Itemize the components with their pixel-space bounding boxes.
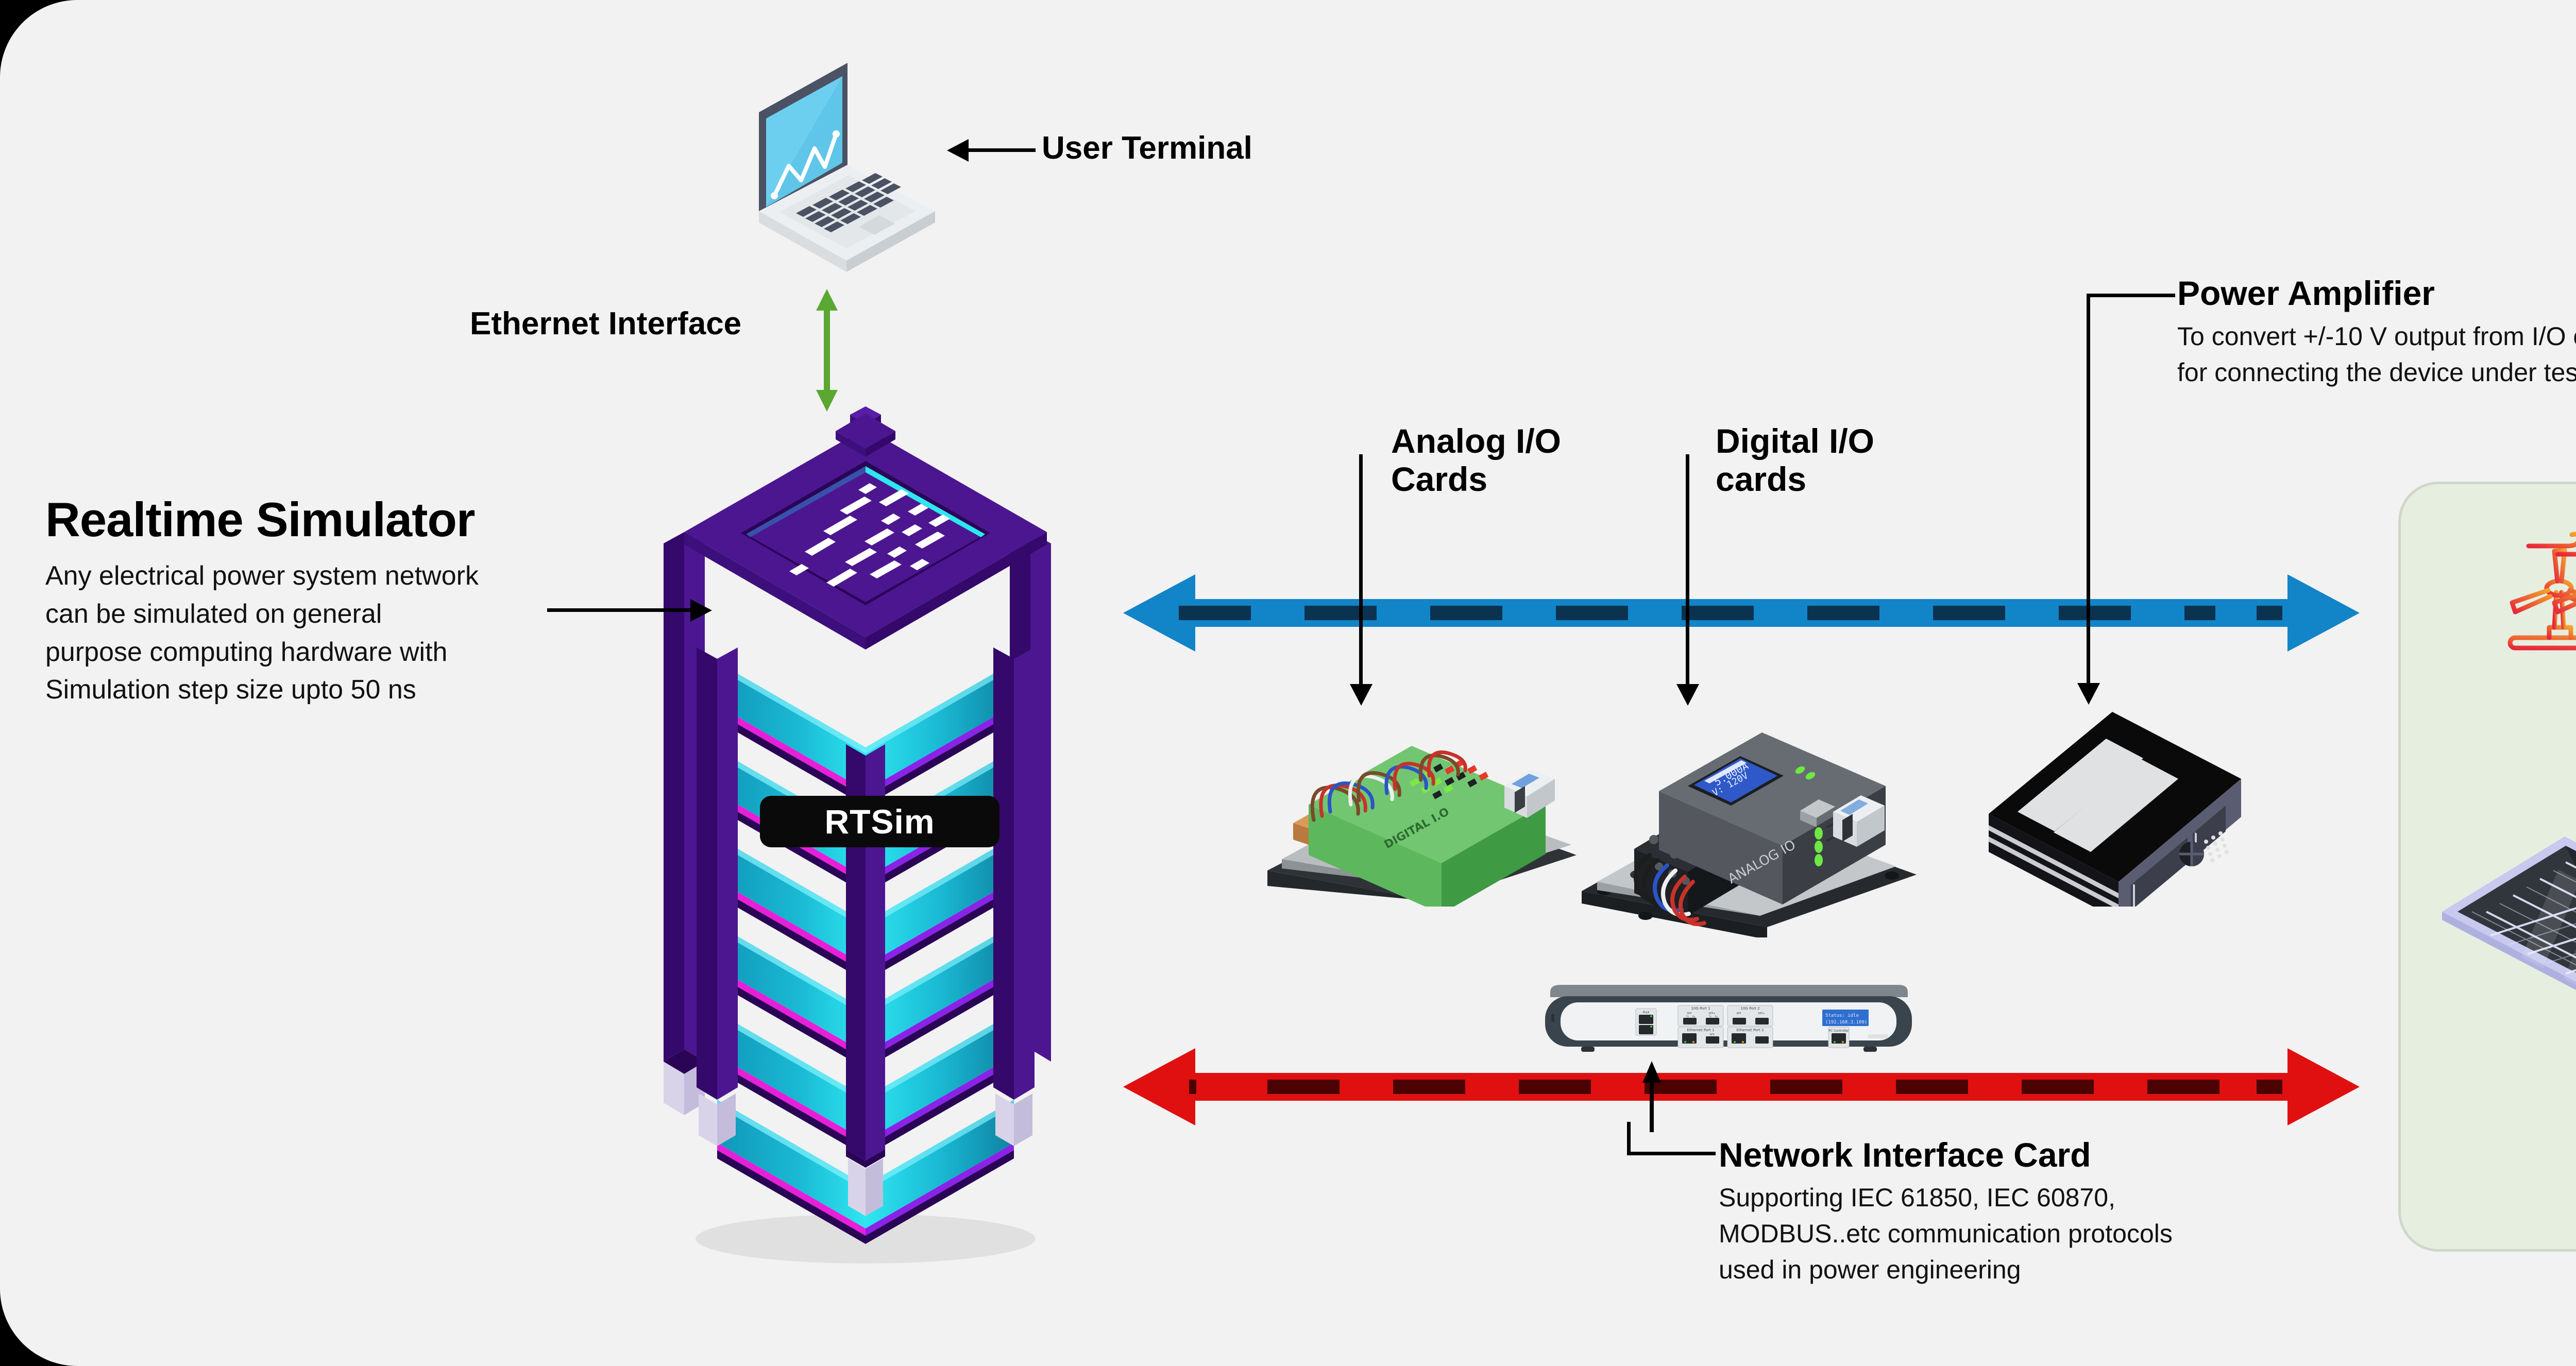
nic-port-label-aux: Aux bbox=[1642, 1010, 1649, 1014]
nic-leader-vline bbox=[1627, 1122, 1631, 1154]
power-amplifier-leader-vline bbox=[2087, 294, 2090, 685]
svg-text:SFP: SFP bbox=[1736, 1012, 1741, 1015]
nic-desc-line-1: Supporting IEC 61850, IEC 60870, bbox=[1719, 1180, 2388, 1216]
analog-io-label: Analog I/O Cards bbox=[1391, 422, 1561, 499]
digital-io-label: Digital I/O cards bbox=[1716, 422, 1874, 499]
svg-text:SFP: SFP bbox=[1709, 1033, 1714, 1036]
svg-text:Tx: Tx bbox=[1708, 1015, 1711, 1018]
nic-status-line-1: Status: idle bbox=[1825, 1013, 1859, 1018]
power-amplifier-heading: Power Amplifier bbox=[2177, 275, 2435, 313]
sim-desc-line-2: can be simulated on general bbox=[45, 595, 561, 634]
svg-text:Tx: Tx bbox=[1686, 1015, 1689, 1018]
analog-io-label-line-1: Analog I/O bbox=[1391, 422, 1561, 460]
svg-text:Rx: Rx bbox=[1715, 1015, 1718, 1018]
digital-io-label-line-2: cards bbox=[1716, 460, 1874, 499]
nic-desc-line-2: MODBUS..etc communication protocols bbox=[1719, 1216, 2388, 1252]
nic-port-label-pc: PC Controller bbox=[1828, 1029, 1849, 1033]
analog-signal-bus bbox=[1123, 564, 2360, 662]
rtsim-badge-label: RTSim bbox=[824, 802, 935, 841]
nic-port-label-10g-1: 10G Port 1 bbox=[1691, 1006, 1710, 1011]
analog-io-device: DIGITAL I.O bbox=[1257, 685, 1587, 907]
diagram-canvas: User Terminal Ethernet Interface bbox=[0, 0, 2576, 1366]
realtime-simulator-heading: Realtime Simulator bbox=[45, 494, 474, 545]
nic-port-label-10g-2: 10G Port 2 bbox=[1740, 1006, 1759, 1011]
digital-io-label-line-1: Digital I/O bbox=[1716, 422, 1874, 460]
nic-leader-arrow-up bbox=[1636, 1060, 1667, 1132]
user-terminal-illustration bbox=[719, 57, 1007, 283]
nic-status-line-2: (192.168.3.100) bbox=[1825, 1020, 1867, 1025]
sim-desc-line-1: Any electrical power system network bbox=[45, 557, 561, 595]
power-amplifier-description: To convert +/-10 V output from I/O cards… bbox=[2177, 318, 2576, 390]
power-amplifier-leader-hline bbox=[2087, 294, 2175, 297]
nic-port-label-eth-1: Ethernet Port 1 bbox=[1687, 1028, 1715, 1032]
sim-desc-line-3: purpose computing hardware with bbox=[45, 634, 561, 672]
simulator-leader-arrow bbox=[690, 599, 712, 622]
ethernet-interface-label: Ethernet Interface bbox=[470, 305, 741, 343]
pa-desc-line-2: for connecting the device under test bbox=[2177, 354, 2576, 390]
svg-text:Rx: Rx bbox=[1692, 1015, 1696, 1018]
nic-leader-hline bbox=[1627, 1152, 1716, 1155]
sim-desc-line-4: Simulation step size upto 50 ns bbox=[45, 671, 561, 709]
network-interface-card-heading: Network Interface Card bbox=[1719, 1136, 2091, 1174]
network-interface-card-description: Supporting IEC 61850, IEC 60870, MODBUS.… bbox=[1719, 1180, 2388, 1288]
rtsim-badge: RTSim bbox=[760, 796, 999, 847]
network-interface-card-device: Aux 10G Port 1 SFP SFP+ Tx Rx Tx Rx 10G … bbox=[1538, 974, 1919, 1066]
user-terminal-label: User Terminal bbox=[1042, 130, 1252, 167]
analog-io-leader-line bbox=[1359, 454, 1363, 686]
nic-port-label-eth-2: Ethernet Port 2 bbox=[1737, 1028, 1764, 1032]
wind-turbine-icon bbox=[2488, 525, 2576, 659]
svg-text:SFP+: SFP+ bbox=[1758, 1012, 1765, 1015]
digital-io-leader-line bbox=[1686, 454, 1689, 686]
pa-desc-line-1: To convert +/-10 V output from I/O cards bbox=[2177, 318, 2576, 354]
digital-io-device: 5.000A V: 120V ANALOG IO bbox=[1577, 685, 1937, 937]
nic-desc-line-3: used in power engineering bbox=[1719, 1252, 2388, 1288]
user-terminal-leader-arrow bbox=[947, 139, 969, 162]
analog-io-label-line-2: Cards bbox=[1391, 460, 1561, 499]
user-terminal-leader-line bbox=[969, 148, 1036, 152]
simulator-leader-line bbox=[547, 608, 694, 612]
realtime-simulator-description: Any electrical power system network can … bbox=[45, 557, 561, 709]
power-amplifier-device bbox=[1984, 690, 2303, 907]
solar-panel-icon bbox=[2437, 814, 2576, 1030]
